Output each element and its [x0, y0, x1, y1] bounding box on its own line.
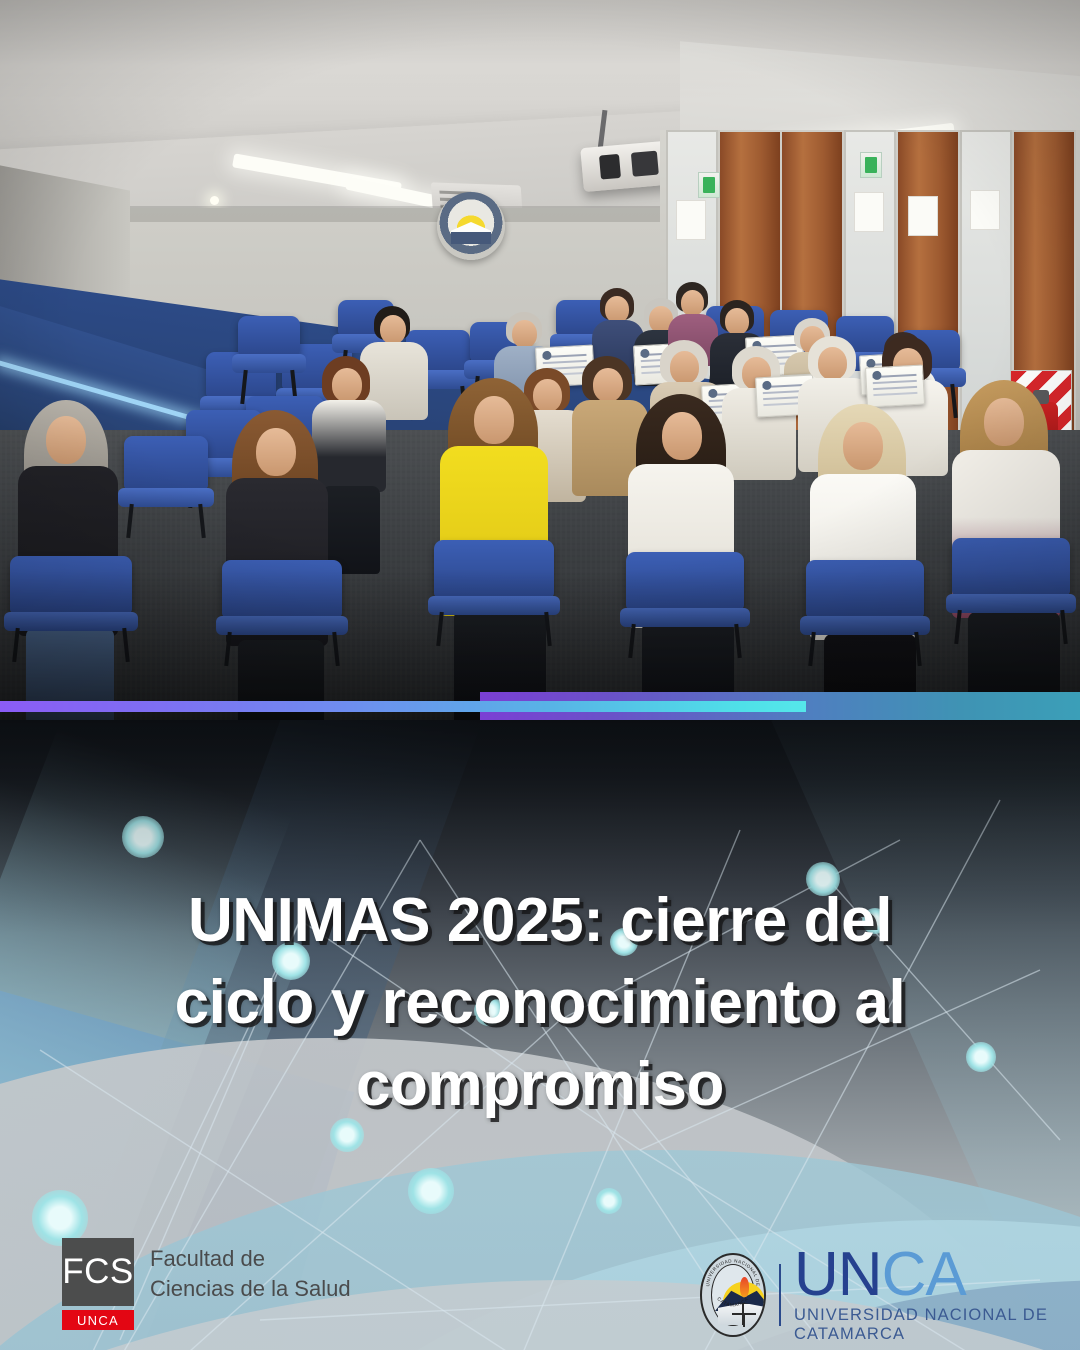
chair [434, 540, 554, 598]
title-line-2: ciclo y reconocimiento al [175, 968, 906, 1037]
fcs-logo: FCS UNCA Facultad de Ciencias de la Salu… [62, 1238, 351, 1330]
exit-sign-icon [698, 172, 720, 198]
title-line-3: compromiso [356, 1050, 724, 1119]
unca-logo-divider [779, 1264, 781, 1326]
seal-top-label: UNIVERSIDAD NACIONAL DE [705, 1258, 760, 1286]
fcs-logo-mark: FCS UNCA [62, 1238, 134, 1330]
social-media-poster: UNIMAS 2025: cierre del ciclo y reconoci… [0, 0, 1080, 1350]
unca-seal-icon: UNIVERSIDAD NACIONAL DE CATAMARCA [700, 1253, 766, 1337]
fcs-unca-badge: UNCA [62, 1310, 134, 1330]
unca-subtitle: UNIVERSIDAD NACIONAL DE CATAMARCA [794, 1306, 1080, 1344]
chair [626, 552, 744, 610]
downlight-icon [210, 196, 219, 205]
unca-wordmark-dark: UN [794, 1246, 882, 1303]
unca-wordmark-light: CA [882, 1246, 966, 1303]
svg-text:CATAMARCA: CATAMARCA [715, 1296, 750, 1308]
chair [222, 560, 342, 618]
svg-text:UNIVERSIDAD NACIONAL DE: UNIVERSIDAD NACIONAL DE [705, 1258, 760, 1286]
posted-notice [676, 200, 706, 240]
unca-wordmark: UN CA UNIVERSIDAD NACIONAL DE CATAMARCA [794, 1246, 1080, 1344]
unca-wordmark-text: UN CA [794, 1246, 1080, 1303]
unca-logo: UNIVERSIDAD NACIONAL DE CATAMARCA UN CA … [700, 1246, 1080, 1344]
accent-bar-thin [0, 701, 806, 712]
seal-circular-text: UNIVERSIDAD NACIONAL DE CATAMARCA [702, 1255, 764, 1317]
chair [124, 436, 208, 490]
exit-sign-icon [860, 152, 882, 178]
seal-bottom-label: CATAMARCA [715, 1296, 750, 1308]
event-photo [0, 0, 1080, 731]
posted-notice [908, 196, 938, 236]
fcs-unca-badge-text: UNCA [77, 1313, 119, 1328]
unca-wall-emblem-icon [437, 192, 505, 260]
chair [238, 316, 300, 356]
chair [806, 560, 924, 618]
posted-notice [854, 192, 884, 232]
posted-notice [970, 190, 1000, 230]
title-line-1: UNIMAS 2025: cierre del [188, 886, 892, 955]
fcs-monogram-text: FCS [62, 1252, 134, 1292]
fcs-monogram-box: FCS [62, 1238, 134, 1306]
fcs-faculty-name: Facultad de Ciencias de la Salud [150, 1238, 351, 1303]
chair [952, 538, 1070, 596]
photo-scene [0, 0, 1080, 731]
chair [10, 556, 132, 614]
page-title: UNIMAS 2025: cierre del ciclo y reconoci… [100, 880, 980, 1125]
